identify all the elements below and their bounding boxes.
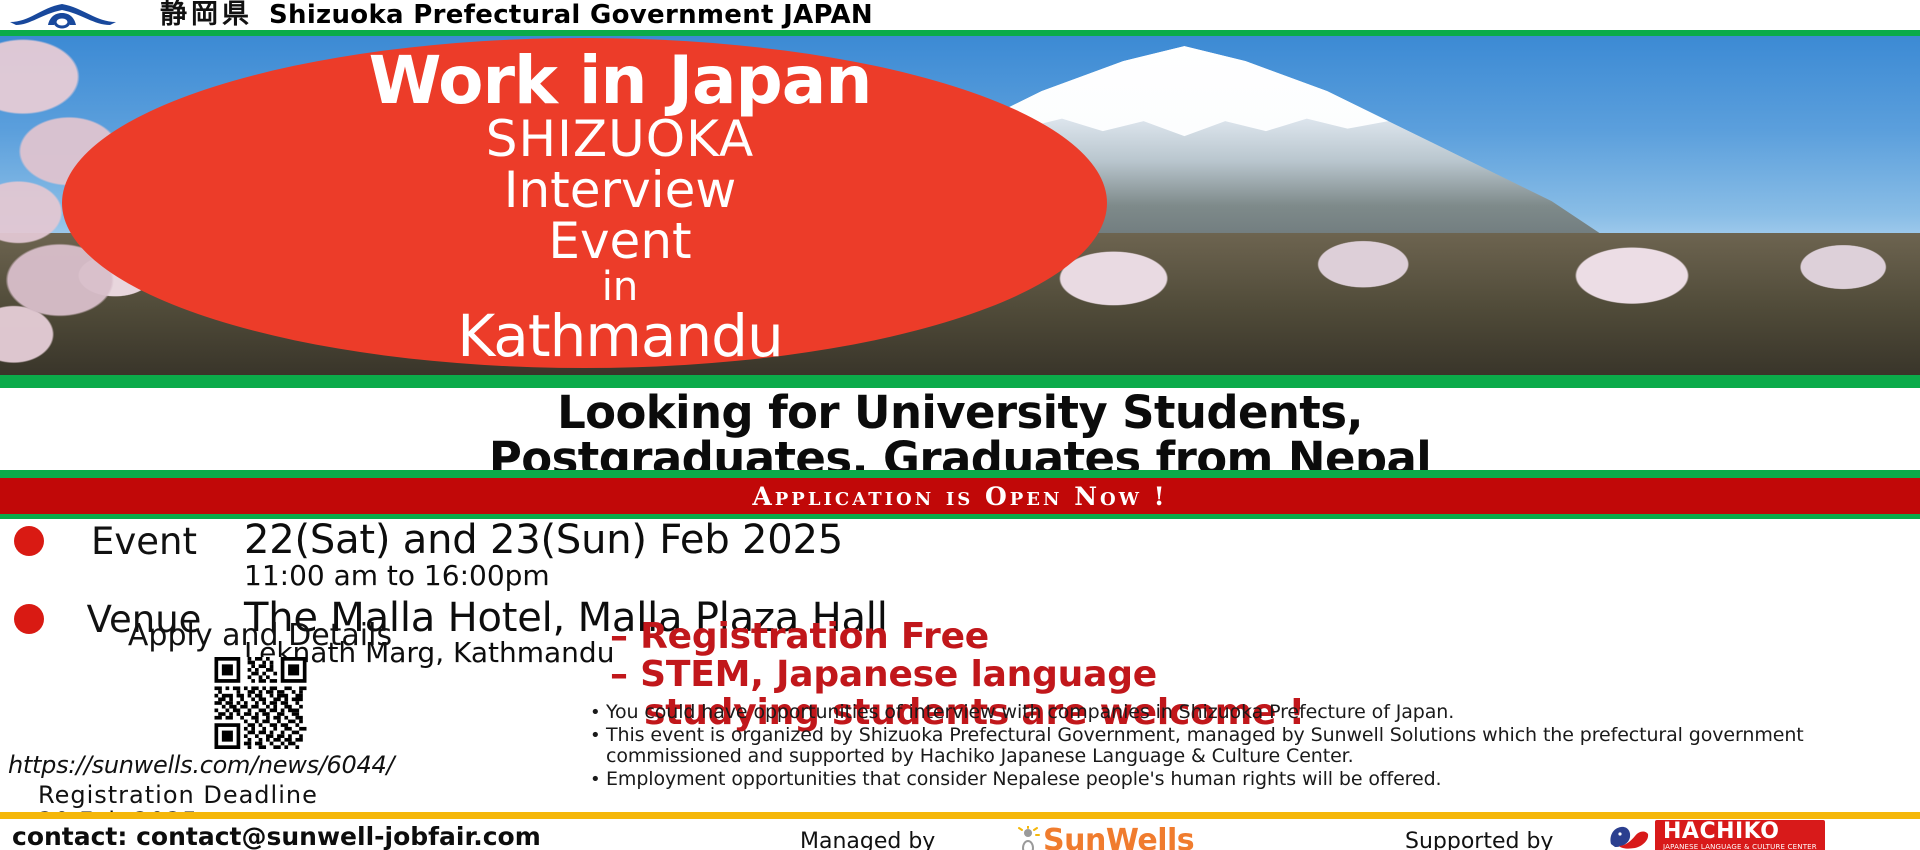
footer-bar: contact: contact@sunwell-jobfair.com Man… [0,819,1920,850]
contact-email[interactable]: contact: contact@sunwell-jobfair.com [12,822,541,850]
headline-block: Looking for University Students, Postgra… [0,390,1920,470]
detail-value-event: 22(Sat) and 23(Sun) Feb 2025 11:00 am to… [244,520,1920,592]
fine-print-text-2: This event is organized by Shizuoka Pref… [606,725,1920,768]
hachiko-subtitle: JAPANESE LANGUAGE & CULTURE CENTER [1663,843,1817,850]
hero-title-line6: Kathmandu [457,307,782,366]
cherry-blossom-right [1400,192,1920,375]
bullet-icon: • [590,702,606,724]
hachiko-logo: HACHIKO JAPANESE LANGUAGE & CULTURE CENT… [1605,820,1825,850]
sunwells-mark-icon [1015,826,1041,850]
hachiko-dog-icon [1605,822,1651,850]
fine-print-text-3: Employment opportunities that consider N… [606,769,1441,791]
hero-title-line1: Work in Japan [369,48,872,114]
fine-print-list: • You could have opportunities of interv… [590,702,1920,792]
application-open-banner: Application is Open Now ! [0,478,1920,514]
red-note-2-text: STEM, Japanese language [640,654,1157,695]
qr-code[interactable] [198,657,323,749]
detail-label-event: Event [44,523,244,560]
list-item: • This event is organized by Shizuoka Pr… [590,725,1920,768]
hachiko-wordmark: HACHIKO [1663,821,1817,843]
dash-icon: – [610,616,628,657]
dash-icon: – [610,654,628,695]
yellow-divider [0,812,1920,819]
qr-code-wrapper[interactable] [0,657,520,749]
sunwells-logo: SunWells [1015,823,1194,850]
red-note-stem: – STEM, Japanese language [610,656,1920,694]
hero-title-line2: SHIZUOKA [486,114,754,165]
header-kanji: 静岡県 [160,0,253,30]
red-note-registration-free: – Registration Free [610,618,1920,656]
header-title: Shizuoka Prefectural Government JAPAN [269,0,873,30]
hero-title-line4: Event [548,216,691,267]
apply-details-title: Apply and Details [0,618,520,653]
detail-row-event: Event 22(Sat) and 23(Sun) Feb 2025 11:00… [0,520,1920,592]
event-date: 22(Sat) and 23(Sun) Feb 2025 [244,520,1920,561]
header-bar: 静岡県 Shizuoka Prefectural Government JAPA… [0,0,1920,30]
list-item: • You could have opportunities of interv… [590,702,1920,724]
event-time: 11:00 am to 16:00pm [244,561,1920,592]
hero-title-line3: Interview [504,165,737,216]
fine-print-text-1: You could have opportunities of intervie… [606,702,1454,724]
apply-and-details-block: Apply and Details [0,618,600,835]
headline-line1: Looking for University Students, [0,390,1920,436]
green-divider-mid2 [0,470,1920,478]
bullet-icon: • [590,725,606,768]
hachiko-wordmark-box: HACHIKO JAPANESE LANGUAGE & CULTURE CENT… [1655,820,1825,850]
red-note-1-text: Registration Free [640,616,989,657]
bullet-dot-icon [14,526,44,556]
sunwells-wordmark: SunWells [1043,823,1194,850]
managed-by-label: Managed by [800,829,935,850]
shizuoka-prefecture-logo [0,0,150,30]
hero-title-line5: in [602,267,638,307]
application-open-text: Application is Open Now ! [752,482,1167,511]
deadline-label: Registration Deadline [38,783,600,809]
supported-by-label: Supported by [1405,829,1553,850]
apply-url[interactable]: https://sunwells.com/news/6044/ [0,751,600,779]
poster-root: 静岡県 Shizuoka Prefectural Government JAPA… [0,0,1920,850]
hero-title-block: Work in Japan SHIZUOKA Interview Event i… [110,40,1130,365]
list-item: • Employment opportunities that consider… [590,769,1920,791]
bullet-icon: • [590,769,606,791]
